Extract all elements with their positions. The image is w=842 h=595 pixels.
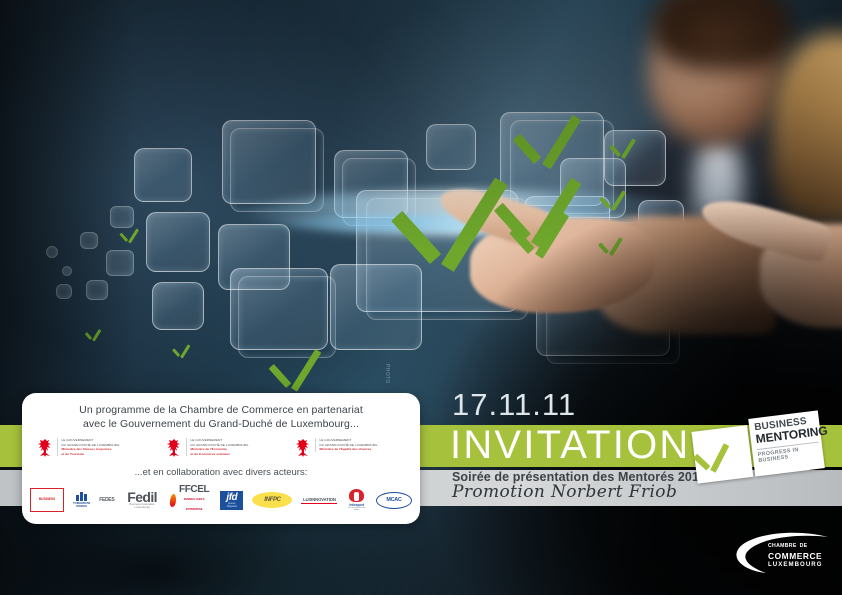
brand-line-3: LUXEMBOURG: [768, 561, 823, 569]
gov-line-3: Ministère de l'Égalité des chances: [320, 447, 406, 452]
government-text: LE GOUVERNEMENT DU GRAND-DUCHÉ DE LUXEMB…: [186, 438, 277, 456]
government-text: LE GOUVERNEMENT DU GRAND-DUCHÉ DE LUXEMB…: [315, 438, 406, 452]
ffcel-text: FFCEL FEMMES CHEFS ENTREPRISE: [177, 485, 211, 515]
ffcel-sub: FEMMES CHEFS ENTREPRISE: [177, 495, 211, 515]
check-icon: [703, 436, 742, 470]
collaboration-text: ...et en collaboration avec divers acteu…: [22, 467, 420, 478]
partner-logo-tomorrow-works: TOMORROW WORKS: [73, 492, 90, 508]
bar-chart-icon: [76, 492, 87, 501]
gov-line-4: et du Commerce extérieur: [191, 452, 277, 457]
jfd-label: jfd: [224, 493, 239, 502]
partner-logo-infpc: INFPC: [252, 492, 292, 508]
bob-mark: BUSINESS: [30, 488, 64, 512]
government-logo: LE GOUVERNEMENT DU GRAND-DUCHÉ DE LUXEMB…: [295, 438, 406, 458]
mcac-label: MCAC: [376, 492, 412, 509]
lion-icon: [166, 438, 182, 458]
partner-logo-infosport: Infosport au service de vos idées: [346, 489, 367, 511]
brand-line-2: COMMERCE: [768, 552, 823, 562]
infosport-sub: au service de vos idées: [346, 507, 367, 511]
infosport-icon: [349, 489, 364, 502]
brand-line-1-small: DE: [800, 543, 808, 549]
ffcel-mark: FFCEL FEMMES CHEFS ENTREPRISE: [170, 485, 211, 515]
jfd-mark: jfd jeunes dirigeants: [220, 491, 243, 510]
lion-icon: [37, 438, 53, 458]
partner-logo-mcac: MCAC: [376, 492, 412, 509]
page-title: INVITATION: [450, 423, 691, 467]
partners-card: Un programme de la Chambre de Commerce e…: [22, 393, 420, 524]
partner-logos: BUSINESS TOMORROW WORKS FEDES Fedil Busi…: [22, 485, 420, 515]
brand-line-1: CHAMBREDE: [768, 540, 823, 552]
partner-logo-ffcel: FFCEL FEMMES CHEFS ENTREPRISE: [170, 485, 211, 515]
government-logo: LE GOUVERNEMENT DU GRAND-DUCHÉ DE LUXEMB…: [37, 438, 148, 458]
government-logos: LE GOUVERNEMENT DU GRAND-DUCHÉ DE LUXEMB…: [22, 438, 420, 458]
tw-label: TOMORROW WORKS: [73, 502, 90, 508]
stamp-text-box: BUSINESS MENTORING PROGRESS IN BUSINESS: [748, 410, 825, 476]
brand-text: CHAMBREDE COMMERCE LUXEMBOURG: [768, 540, 823, 569]
invitation-page: PHOTO 17.11.11 INVITATION Soirée de prés…: [0, 0, 842, 595]
intro-text: Un programme de la Chambre de Commerce e…: [22, 403, 420, 431]
fedil-mark: Fedil Business Federation Luxembourg: [123, 491, 161, 509]
promotion-name: Promotion Norbert Friob: [452, 483, 677, 502]
lion-icon: [295, 438, 311, 458]
partner-logo-fedil: Fedil Business Federation Luxembourg: [123, 491, 161, 509]
bob-label: BUSINESS: [39, 498, 55, 502]
luxinnovation-label: LUXINNOVATION: [303, 497, 336, 502]
partner-logo-bob: BUSINESS: [30, 488, 64, 512]
photo-credit: PHOTO: [384, 364, 390, 384]
fedes-label: FEDES: [99, 497, 114, 503]
partner-logo-luxinnovation: LUXINNOVATION: [301, 497, 337, 504]
event-date: 17.11.11: [452, 389, 576, 420]
luxinnovation-rule: [301, 503, 337, 504]
intro-line-1: Un programme de la Chambre de Commerce e…: [22, 403, 420, 417]
brand-line-1-text: CHAMBRE: [768, 543, 797, 549]
gov-line-4: et du Tourisme: [62, 452, 148, 457]
flame-icon: [169, 494, 177, 507]
infpc-label: INFPC: [252, 492, 292, 508]
ffcel-label: FFCEL: [179, 484, 209, 495]
government-text: LE GOUVERNEMENT DU GRAND-DUCHÉ DE LUXEMB…: [57, 438, 148, 456]
tw-label-bottom: WORKS: [76, 504, 87, 508]
government-logo: LE GOUVERNEMENT DU GRAND-DUCHÉ DE LUXEMB…: [166, 438, 277, 458]
stamp-check-box: [691, 425, 753, 483]
partner-logo-fedes: FEDES: [99, 497, 114, 503]
intro-line-2: avec le Gouvernement du Grand-Duché de L…: [22, 417, 420, 431]
partner-logo-jfd: jfd jeunes dirigeants: [220, 491, 243, 510]
chambre-de-commerce-logo: CHAMBREDE COMMERCE LUXEMBOURG: [732, 531, 836, 575]
